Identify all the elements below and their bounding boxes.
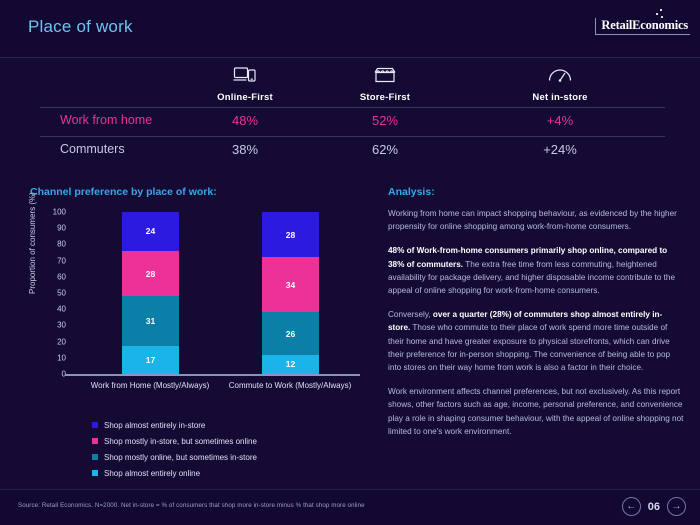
kpi-header-label: Online-First [175, 92, 315, 103]
pager: ← 06 → [622, 497, 686, 516]
slide-footer: Source: Retail Economics. N=2000. Net in… [0, 489, 700, 525]
kpi-value-commuters-net-in-store: +24% [490, 142, 630, 157]
chart-y-tick: 60 [57, 272, 66, 281]
analysis-title: Analysis: [388, 186, 684, 198]
logo-dots-icon [652, 9, 664, 19]
kpi-header-label: Store-First [315, 92, 455, 103]
chart-y-tick: 70 [57, 256, 66, 265]
legend-label: Shop almost entirely in-store [104, 421, 205, 430]
chart-x-axis [65, 374, 360, 376]
legend-swatch [92, 470, 98, 476]
kpi-header-label: Net in-store [490, 92, 630, 103]
chart-title: Channel preference by place of work: [30, 186, 217, 198]
analysis-paragraph: 48% of Work-from-home consumers primaril… [388, 244, 684, 297]
source-note: Source: Retail Economics. N=2000. Net in… [18, 502, 365, 509]
legend-swatch [92, 454, 98, 460]
legend-item[interactable]: Shop almost entirely online [92, 465, 257, 481]
arrow-left-icon[interactable]: ← [622, 497, 641, 516]
page-title: Place of work [28, 17, 133, 37]
kpi-column-online-first: Online-First [175, 62, 315, 103]
chart-bar-segment: 31 [122, 296, 179, 346]
kpi-value-wfh-net-in-store: +4% [490, 113, 630, 128]
chart-y-tick: 90 [57, 224, 66, 233]
arrow-right-icon[interactable]: → [667, 497, 686, 516]
kpi-column-store-first: Store-First [315, 62, 455, 103]
legend-item[interactable]: Shop mostly online, but sometimes in-sto… [92, 449, 257, 465]
logo-text: RetailEconomics [601, 18, 688, 32]
chart-y-tick: 10 [57, 353, 66, 362]
analysis-paragraph: Work environment affects channel prefere… [388, 385, 684, 438]
chart-y-tick: 30 [57, 321, 66, 330]
analysis-panel: Analysis: Working from home can impact s… [388, 186, 684, 449]
kpi-row-label-commuters: Commuters [60, 142, 125, 156]
chart-bar-segment: 28 [262, 212, 319, 257]
analysis-paragraph: Working from home can impact shopping be… [388, 207, 684, 233]
chart-bar-segment: 26 [262, 312, 319, 354]
kpi-value-commuters-online-first: 38% [175, 142, 315, 157]
chart-plot-area: 10090807060504030201002428311728342612 [72, 212, 352, 374]
analysis-paragraph: Conversely, over a quarter (28%) of comm… [388, 308, 684, 374]
kpi-row-label-work-from-home: Work from home [60, 113, 152, 127]
legend-label: Shop mostly in-store, but sometimes onli… [104, 437, 257, 446]
kpi-column-net-in-store: Net in-store [490, 62, 630, 103]
chart-x-tick: Commute to Work (Mostly/Always) [200, 381, 380, 390]
chart-y-tick: 20 [57, 337, 66, 346]
chart-bar-segment: 34 [262, 257, 319, 312]
retail-economics-logo: RetailEconomics [595, 18, 690, 35]
chart-bar-segment: 17 [122, 346, 179, 374]
chart-legend: Shop almost entirely in-storeShop mostly… [92, 417, 257, 481]
gauge-icon [490, 62, 630, 88]
legend-label: Shop almost entirely online [104, 469, 200, 478]
kpi-table: Online-First Store-First Net in-store Wo… [0, 58, 700, 170]
chart-bar: 28342612 [262, 212, 319, 374]
chart-y-tick: 100 [53, 208, 66, 217]
storefront-icon [315, 62, 455, 88]
legend-swatch [92, 422, 98, 428]
kpi-divider [40, 136, 665, 137]
legend-label: Shop mostly online, but sometimes in-sto… [104, 453, 257, 462]
chart-bar-segment: 12 [262, 355, 319, 374]
chart-y-tick: 40 [57, 305, 66, 314]
analysis-body: Working from home can impact shopping be… [388, 207, 684, 438]
kpi-value-wfh-store-first: 52% [315, 113, 455, 128]
kpi-value-wfh-online-first: 48% [175, 113, 315, 128]
legend-item[interactable]: Shop almost entirely in-store [92, 417, 257, 433]
chart-y-axis-label: Proportion of consumers (%) [28, 192, 37, 294]
chart-y-tick: 50 [57, 289, 66, 298]
kpi-value-commuters-store-first: 62% [315, 142, 455, 157]
chart-bar-segment: 28 [122, 251, 179, 296]
page-number: 06 [648, 501, 660, 513]
legend-item[interactable]: Shop mostly in-store, but sometimes onli… [92, 433, 257, 449]
chart-bar: 24283117 [122, 212, 179, 374]
devices-icon [175, 62, 315, 88]
chart-bar-segment: 24 [122, 212, 179, 251]
legend-swatch [92, 438, 98, 444]
chart-y-tick: 80 [57, 240, 66, 249]
slide-header: Place of work RetailEconomics [0, 0, 700, 58]
kpi-divider [40, 107, 665, 108]
